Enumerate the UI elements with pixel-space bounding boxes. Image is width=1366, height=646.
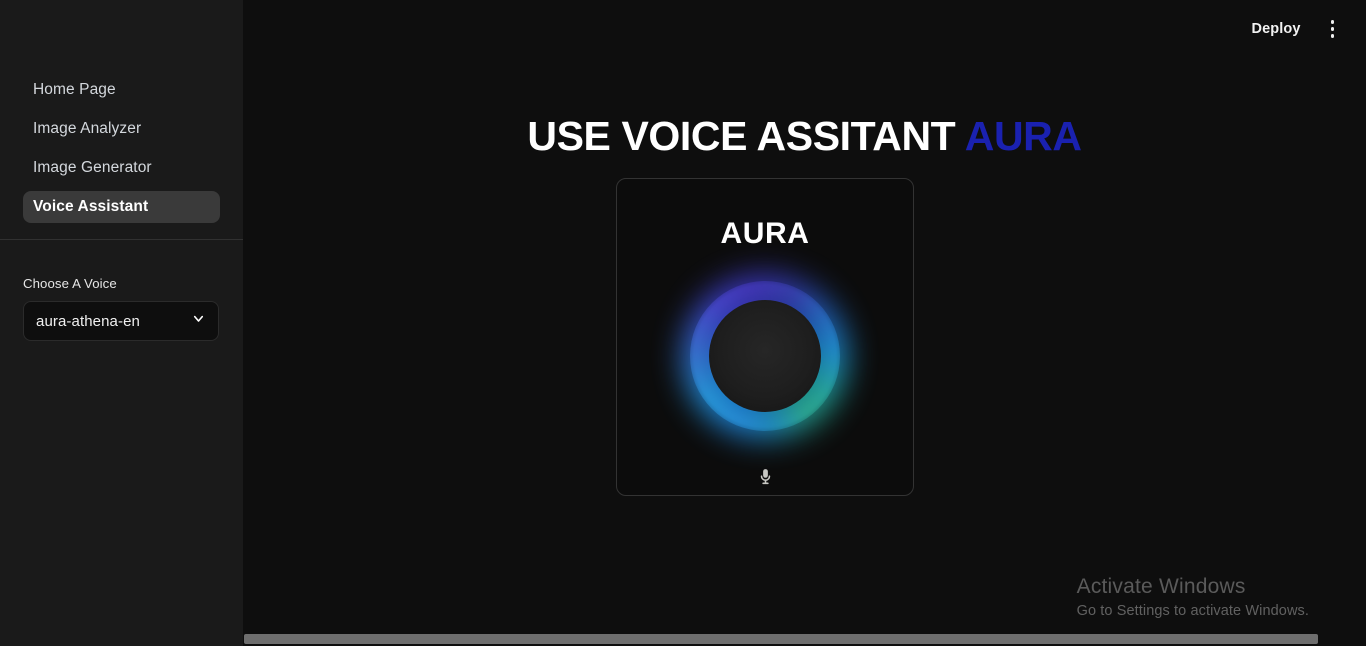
- app-header: Deploy: [1246, 0, 1366, 58]
- horizontal-scrollbar[interactable]: [243, 632, 1366, 646]
- voice-picker-section: Choose A Voice aura-athena-en: [0, 276, 243, 341]
- page-title: USE VOICE ASSITANT AURA: [243, 113, 1366, 160]
- voice-select[interactable]: aura-athena-en: [23, 301, 219, 341]
- voice-select-value: aura-athena-en: [36, 313, 140, 330]
- sidebar-nav: Home Page Image Analyzer Image Generator…: [0, 76, 243, 223]
- sidebar-item-image-analyzer[interactable]: Image Analyzer: [23, 115, 220, 143]
- kebab-menu-icon[interactable]: [1325, 16, 1341, 42]
- microphone-icon: [756, 466, 775, 491]
- watermark-title: Activate Windows: [1077, 575, 1309, 599]
- main-content: Deploy USE VOICE ASSITANT AURA AURA: [243, 0, 1366, 646]
- microphone-button[interactable]: [752, 462, 779, 495]
- sidebar: Home Page Image Analyzer Image Generator…: [0, 0, 243, 646]
- horizontal-scrollbar-thumb[interactable]: [244, 634, 1318, 644]
- page-title-prefix: USE VOICE ASSITANT: [527, 113, 964, 159]
- card-title: AURA: [720, 217, 809, 251]
- voice-picker-label: Choose A Voice: [23, 276, 220, 291]
- sidebar-item-voice-assistant[interactable]: Voice Assistant: [23, 191, 220, 223]
- sidebar-item-image-generator[interactable]: Image Generator: [23, 154, 220, 182]
- page-title-accent: AURA: [965, 113, 1082, 159]
- chevron-down-icon: [191, 311, 206, 331]
- deploy-button[interactable]: Deploy: [1246, 17, 1307, 41]
- sidebar-item-home-page[interactable]: Home Page: [23, 76, 220, 104]
- windows-activation-watermark: Activate Windows Go to Settings to activ…: [1077, 575, 1309, 619]
- voice-orb-core: [709, 300, 821, 412]
- app-root: Home Page Image Analyzer Image Generator…: [0, 0, 1366, 646]
- watermark-subtitle: Go to Settings to activate Windows.: [1077, 603, 1309, 619]
- sidebar-divider: [0, 239, 243, 240]
- voice-assistant-card: AURA: [616, 178, 914, 496]
- voice-orb[interactable]: [672, 271, 858, 440]
